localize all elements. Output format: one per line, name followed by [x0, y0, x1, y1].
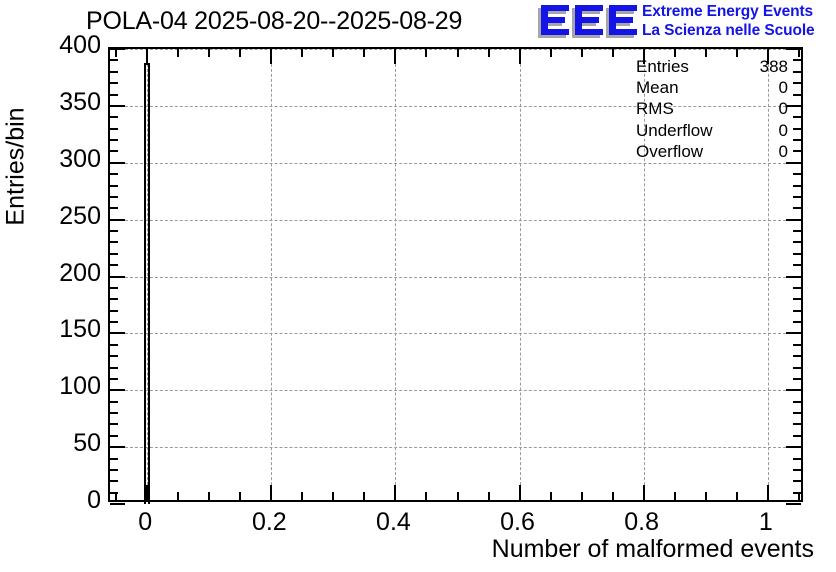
y-tick-minor-right [793, 264, 801, 266]
root-canvas: POLA-04 2025-08-20--2025-08-29 Extreme E… [0, 0, 836, 572]
y-tick-minor [110, 355, 118, 357]
y-tick-label: 150 [59, 315, 101, 344]
stats-row-value: 388 [760, 56, 788, 77]
y-tick-minor [110, 367, 118, 369]
x-tick-major-top [519, 49, 521, 64]
x-tick-label: 0.4 [333, 508, 453, 537]
eee-logo: Extreme Energy Events La Scienza nelle S… [538, 3, 832, 41]
x-tick-major [643, 485, 645, 500]
y-tick-minor [110, 59, 118, 61]
y-tick-major-right [786, 105, 801, 107]
stats-row: Overflow0 [636, 141, 788, 162]
x-tick-major [394, 485, 396, 500]
x-tick-minor-top [798, 49, 800, 57]
x-tick-minor-top [581, 49, 583, 57]
x-tick-minor [736, 492, 738, 500]
x-tick-major-top [146, 49, 148, 64]
y-tick-minor [110, 458, 118, 460]
y-tick-minor-right [793, 150, 801, 152]
y-tick-minor-right [793, 185, 801, 187]
y-tick-minor [110, 150, 118, 152]
y-tick-label: 250 [59, 202, 101, 231]
y-tick-minor [110, 423, 118, 425]
y-tick-minor [110, 196, 118, 198]
y-tick-minor-right [793, 367, 801, 369]
x-tick-minor [612, 492, 614, 500]
y-tick-major [110, 48, 125, 50]
y-tick-major [110, 219, 125, 221]
y-tick-major [110, 446, 125, 448]
stats-row: Mean0 [636, 77, 788, 98]
y-tick-minor [110, 344, 118, 346]
x-tick-minor-top [208, 49, 210, 57]
y-tick-minor [110, 128, 118, 130]
x-tick-minor [177, 492, 179, 500]
stats-row-label: Entries [636, 56, 689, 77]
y-tick-minor-right [793, 480, 801, 482]
y-tick-minor [110, 241, 118, 243]
stats-row-value: 0 [779, 120, 788, 141]
x-tick-minor [581, 492, 583, 500]
y-tick-minor [110, 412, 118, 414]
y-tick-minor-right [793, 492, 801, 494]
stats-row-label: RMS [636, 98, 674, 119]
x-tick-minor [674, 492, 676, 500]
y-tick-major [110, 503, 125, 505]
y-tick-minor [110, 401, 118, 403]
x-tick-label: 0.2 [209, 508, 329, 537]
y-tick-label: 50 [73, 429, 101, 458]
y-tick-label: 300 [59, 145, 101, 174]
x-tick-minor-top [488, 49, 490, 57]
y-tick-minor [110, 94, 118, 96]
stats-row-value: 0 [779, 141, 788, 162]
y-tick-minor [110, 469, 118, 471]
x-tick-minor-top [550, 49, 552, 57]
y-tick-minor [110, 173, 118, 175]
stats-row-label: Overflow [636, 141, 703, 162]
y-tick-minor [110, 310, 118, 312]
y-tick-minor-right [793, 378, 801, 380]
x-tick-minor-top [457, 49, 459, 57]
eee-logo-icon [538, 5, 636, 37]
x-axis-title: Number of malformed events [492, 535, 814, 564]
x-tick-minor [488, 492, 490, 500]
x-tick-minor [425, 492, 427, 500]
y-tick-minor [110, 492, 118, 494]
x-tick-minor-top [177, 49, 179, 57]
y-tick-major-right [786, 332, 801, 334]
y-tick-minor [110, 298, 118, 300]
y-tick-minor-right [793, 469, 801, 471]
x-tick-minor [457, 492, 459, 500]
y-tick-minor-right [793, 116, 801, 118]
y-tick-minor [110, 207, 118, 209]
stats-row: Entries388 [636, 56, 788, 77]
x-tick-minor [550, 492, 552, 500]
y-tick-minor [110, 139, 118, 141]
x-tick-minor [208, 492, 210, 500]
x-tick-minor-top [612, 49, 614, 57]
y-tick-minor [110, 321, 118, 323]
stats-row-value: 0 [779, 98, 788, 119]
y-tick-minor-right [793, 287, 801, 289]
y-tick-major-right [786, 276, 801, 278]
y-tick-minor-right [793, 412, 801, 414]
y-tick-label: 350 [59, 88, 101, 117]
y-tick-minor-right [793, 94, 801, 96]
y-tick-minor-right [793, 401, 801, 403]
y-tick-label: 100 [59, 372, 101, 401]
y-tick-minor [110, 71, 118, 73]
y-tick-label: 200 [59, 259, 101, 288]
x-tick-minor [301, 492, 303, 500]
y-tick-minor-right [793, 82, 801, 84]
x-tick-label: 1 [706, 508, 826, 537]
y-tick-minor-right [793, 435, 801, 437]
x-tick-minor-top [363, 49, 365, 57]
y-tick-minor-right [793, 355, 801, 357]
x-tick-minor-top [115, 49, 117, 57]
x-tick-label: 0.8 [582, 508, 702, 537]
y-tick-minor-right [793, 298, 801, 300]
page-title: POLA-04 2025-08-20--2025-08-29 [86, 7, 462, 36]
y-tick-minor-right [793, 173, 801, 175]
y-tick-major [110, 276, 125, 278]
x-tick-major [270, 485, 272, 500]
y-tick-minor-right [793, 128, 801, 130]
stats-row-value: 0 [779, 77, 788, 98]
y-tick-major [110, 389, 125, 391]
histogram-bar [144, 63, 150, 504]
y-tick-minor [110, 435, 118, 437]
y-tick-label: 400 [59, 31, 101, 60]
y-tick-minor [110, 378, 118, 380]
y-tick-minor-right [793, 230, 801, 232]
x-tick-minor-top [239, 49, 241, 57]
x-tick-major [146, 485, 148, 500]
eee-logo-text: Extreme Energy Events La Scienza nelle S… [642, 3, 815, 40]
y-tick-minor-right [793, 423, 801, 425]
y-tick-minor-right [793, 344, 801, 346]
x-tick-minor-top [425, 49, 427, 57]
y-tick-major-right [786, 162, 801, 164]
x-tick-minor [363, 492, 365, 500]
stats-row: Underflow0 [636, 120, 788, 141]
y-tick-minor-right [793, 458, 801, 460]
y-tick-minor-right [793, 321, 801, 323]
x-tick-major-top [270, 49, 272, 64]
y-tick-minor [110, 230, 118, 232]
y-tick-minor [110, 185, 118, 187]
y-tick-minor-right [793, 139, 801, 141]
y-tick-major-right [786, 389, 801, 391]
y-tick-major [110, 332, 125, 334]
y-tick-minor-right [793, 59, 801, 61]
y-tick-minor-right [793, 253, 801, 255]
logo-line-2: La Scienza nelle Scuole [642, 22, 815, 41]
y-tick-minor-right [793, 241, 801, 243]
x-tick-major [519, 485, 521, 500]
x-tick-major-top [394, 49, 396, 64]
y-tick-minor [110, 253, 118, 255]
y-tick-minor [110, 264, 118, 266]
x-tick-minor-top [332, 49, 334, 57]
y-tick-minor-right [793, 310, 801, 312]
logo-line-1: Extreme Energy Events [642, 3, 815, 22]
x-tick-minor [239, 492, 241, 500]
y-tick-minor [110, 287, 118, 289]
y-tick-major-right [786, 446, 801, 448]
x-tick-minor [705, 492, 707, 500]
x-tick-label: 0.6 [458, 508, 578, 537]
x-tick-major [767, 485, 769, 500]
y-tick-major-right [786, 48, 801, 50]
y-tick-major-right [786, 219, 801, 221]
x-tick-minor [332, 492, 334, 500]
stats-box: Entries388Mean0RMS0Underflow0Overflow0 [636, 56, 788, 162]
stats-row: RMS0 [636, 98, 788, 119]
y-tick-minor-right [793, 196, 801, 198]
y-tick-major [110, 105, 125, 107]
x-tick-minor-top [301, 49, 303, 57]
x-tick-label: 0 [85, 508, 205, 537]
y-tick-minor-right [793, 71, 801, 73]
y-tick-major-right [786, 503, 801, 505]
y-tick-minor [110, 480, 118, 482]
stats-row-label: Mean [636, 77, 679, 98]
y-axis-title: Entries/bin [2, 57, 31, 277]
y-tick-major [110, 162, 125, 164]
y-tick-minor [110, 116, 118, 118]
stats-row-label: Underflow [636, 120, 713, 141]
y-tick-minor [110, 82, 118, 84]
y-tick-minor-right [793, 207, 801, 209]
